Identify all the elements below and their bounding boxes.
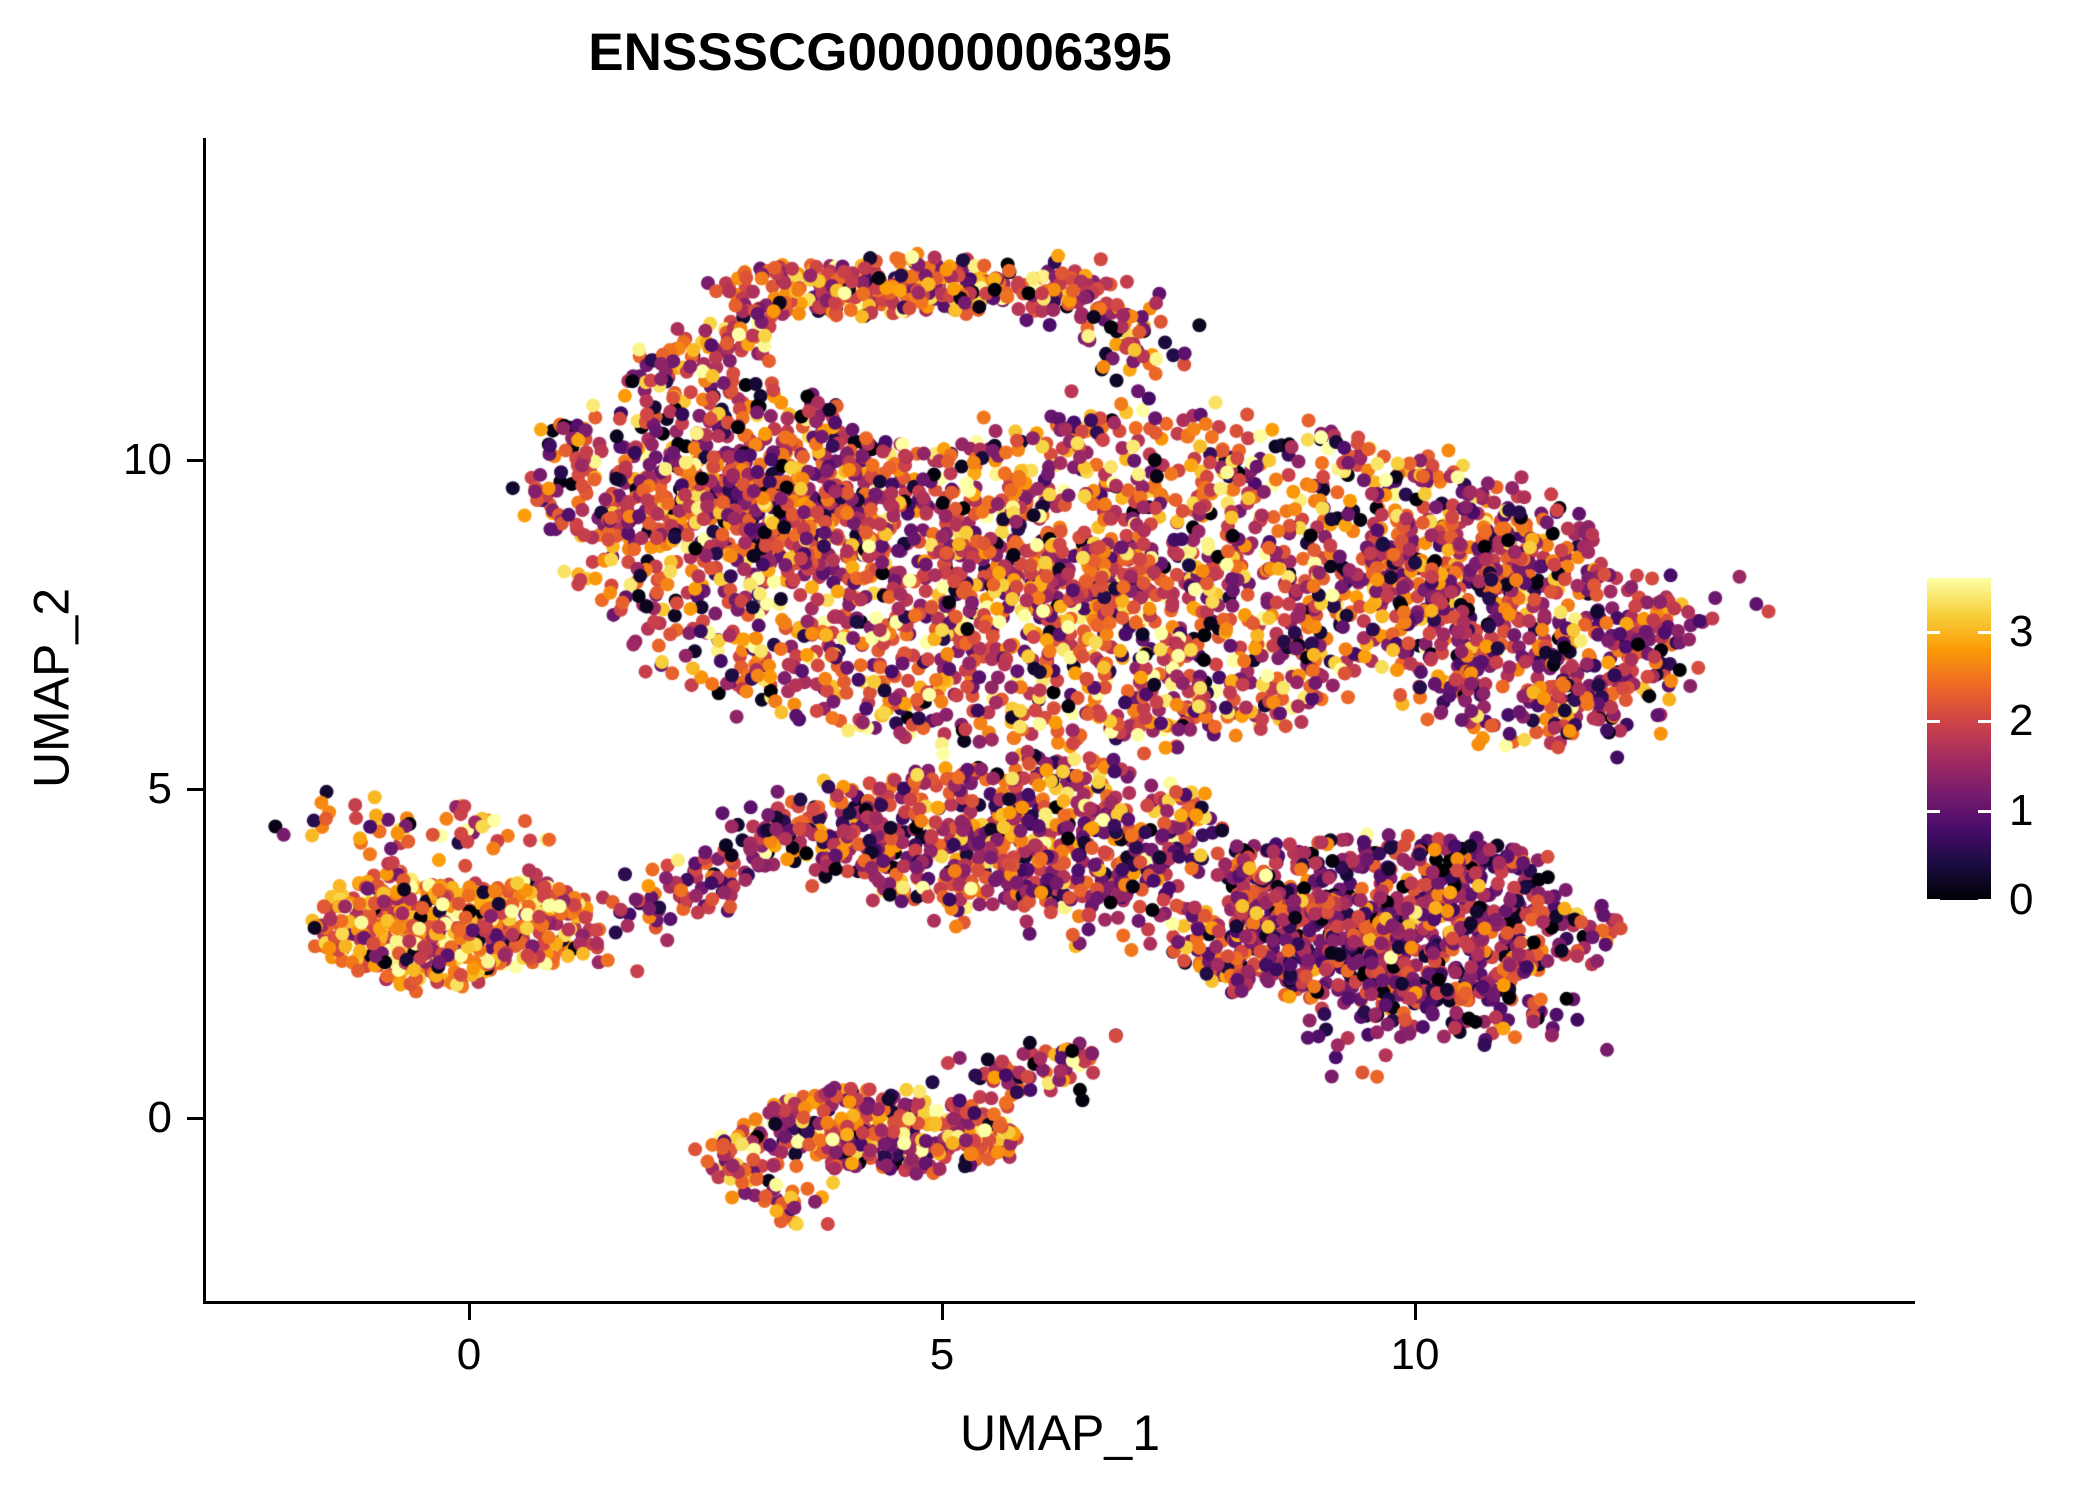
colorbar-tick-mark: [1927, 631, 1940, 634]
y-axis-line: [203, 138, 206, 1304]
y-tick-mark: [187, 459, 203, 462]
colorbar-gradient: [1927, 578, 1991, 900]
x-tick-label: 0: [409, 1330, 529, 1380]
colorbar-tick-label: 1: [2009, 789, 2033, 833]
plot-panel: [205, 138, 1915, 1301]
scatter-plot-canvas: [205, 138, 1915, 1301]
x-axis-line: [203, 1301, 1915, 1304]
y-tick-mark: [187, 1117, 203, 1120]
y-axis-title: UMAP_2: [24, 107, 80, 1270]
x-tick-label: 10: [1355, 1330, 1475, 1380]
x-axis-title: UMAP_1: [205, 1405, 1915, 1461]
colorbar-tick-label: 0: [2009, 878, 2033, 922]
colorbar-tick-mark: [1978, 810, 1991, 813]
x-tick-mark: [468, 1304, 471, 1320]
colorbar-tick-label: 2: [2009, 699, 2033, 743]
colorbar-tick-mark: [1927, 810, 1940, 813]
x-tick-mark: [1414, 1304, 1417, 1320]
colorbar-tick-mark: [1927, 899, 1940, 902]
y-tick-mark: [187, 788, 203, 791]
figure-root: ENSSSCG00000006395 0510 0510 UMAP_1 UMAP…: [0, 0, 2100, 1500]
page-title: ENSSSCG00000006395: [0, 22, 1760, 84]
colorbar-tick-mark: [1978, 720, 1991, 723]
colorbar-tick-mark: [1927, 720, 1940, 723]
colorbar-legend: 3210: [1927, 578, 2087, 900]
colorbar-tick-label: 3: [2009, 610, 2033, 654]
x-tick-label: 5: [882, 1330, 1002, 1380]
colorbar-tick-mark: [1978, 899, 1991, 902]
x-tick-mark: [941, 1304, 944, 1320]
colorbar-tick-mark: [1978, 631, 1991, 634]
